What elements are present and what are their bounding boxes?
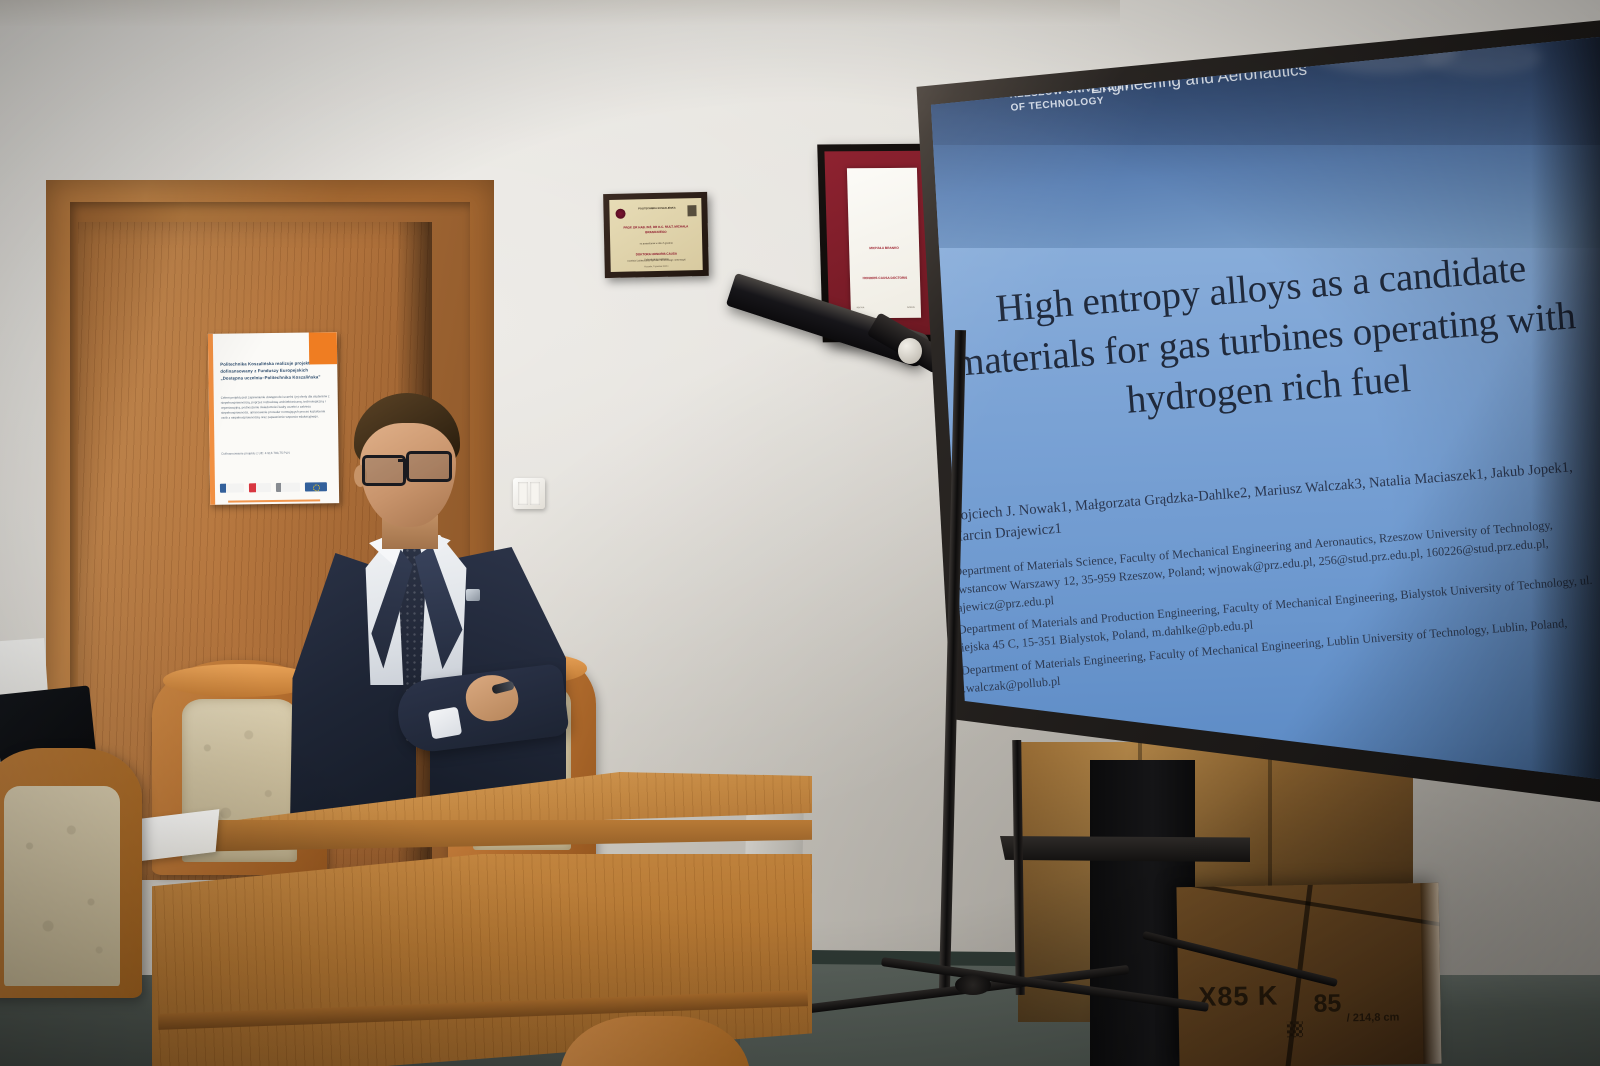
lapel-pin-icon [466, 589, 480, 601]
poster-funding-label: Dofinansowanie projektu z UE: [221, 451, 263, 456]
plaque-line-5: Uczelnia i jubileuszowy Wydziału Technic… [617, 259, 697, 263]
presentation-display[interactable]: RZESZOW UNIVERSITY OF TECHNOLOGY The Fac… [905, 18, 1600, 838]
qr-code-icon [1287, 1021, 1303, 1037]
eyeglasses-bridge [398, 459, 409, 462]
plaque-seal-icon [615, 209, 625, 219]
slide-affiliations: 1 Department of Materials Science, Facul… [944, 513, 1600, 703]
plaque-crest-icon [687, 205, 696, 216]
box-model-text: X85 K [1198, 981, 1279, 1013]
eyeglasses-lens-right [406, 451, 452, 482]
wall-plaque-face: POLITECHNIKA KOSZALIŃSKA PROF. DR HAB. I… [609, 198, 702, 272]
box-size-metric-text: / 214,8 cm [1347, 1011, 1400, 1024]
wall-plaque-frame: POLITECHNIKA KOSZALIŃSKA PROF. DR HAB. I… [603, 192, 709, 278]
poland-flag-logo [249, 483, 271, 492]
chair-upholstery [4, 786, 119, 986]
shirt-cuff [428, 707, 462, 740]
box-size-text: 85 [1313, 989, 1341, 1018]
presenter-person [270, 385, 570, 825]
plaque-line-1: POLITECHNIKA KOSZALIŃSKA [629, 206, 684, 211]
diploma-sig-left: REKTOR [857, 307, 865, 309]
chair-damask-pattern [4, 786, 119, 986]
box-right-edge [1420, 883, 1441, 1064]
display-stand-hub [955, 975, 991, 995]
poster-heading: Politechnika Koszalińska realizuje proje… [220, 360, 328, 382]
logo-shield-shape [989, 48, 1010, 73]
screen-right-falloff [1531, 18, 1600, 838]
republic-of-poland-logo [220, 483, 244, 492]
plaque-line-6: Koszalin, 5 grudnia 2019 r. [617, 265, 697, 269]
chair-foreground-left[interactable] [0, 748, 142, 998]
plaque-line-3: na posiedzeniu w dniu 5 grudnia [619, 242, 693, 247]
airplane-icon [1502, 18, 1519, 28]
poster-accent-bar [208, 334, 215, 505]
plaque-degree: DOKTORA HONORIS CAUSA [619, 251, 693, 257]
slide-title: High entropy alloys as a candidate mater… [943, 240, 1586, 440]
conference-room-photo: Politechnika Koszalińska realizuje proje… [0, 0, 1600, 1066]
diploma-header-text [852, 186, 912, 189]
display-neck [1000, 836, 1250, 862]
plaque-honoree: PROF. DR HAB. INŻ. DR H.C. MULT. MICHAŁA… [619, 224, 693, 235]
